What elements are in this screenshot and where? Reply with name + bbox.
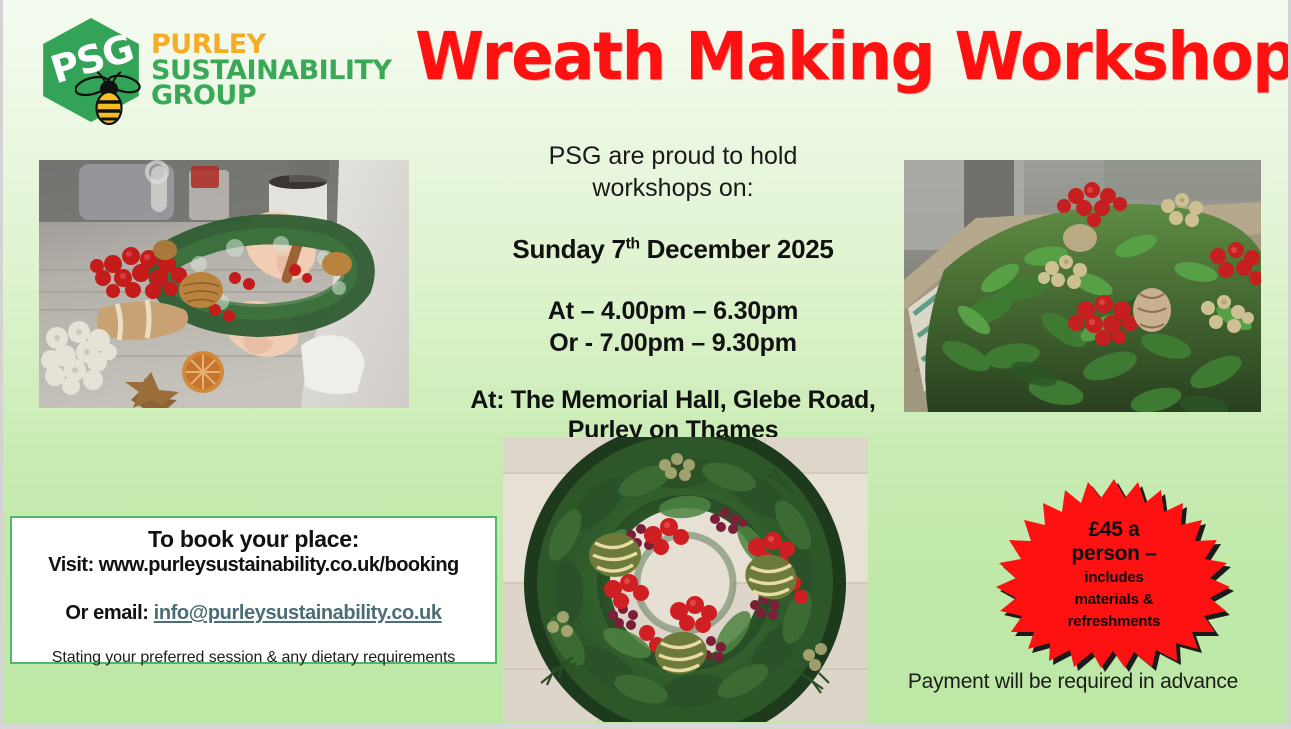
booking-email-link[interactable]: info@purleysustainability.co.uk: [154, 602, 442, 624]
logo-line-purley: PURLEY: [151, 32, 391, 58]
spacer: [423, 265, 923, 295]
price-badge: £45 a person – includes materials & refr…: [978, 477, 1250, 672]
time-session-1: At – 4.00pm – 6.30pm: [423, 295, 923, 327]
payment-note: Payment will be required in advance: [863, 670, 1283, 694]
booking-title: To book your place:: [12, 526, 495, 553]
photo-finished-wreath: [503, 437, 868, 722]
intro-text: PSG are proud to hold workshops on:: [423, 140, 923, 204]
psg-logo: PSG PURLEY SUSTAINABILITY GROUP: [39, 14, 369, 122]
photo-finished-wreath-image: [503, 437, 868, 722]
booking-website[interactable]: Visit: www.purleysustainability.co.uk/bo…: [12, 554, 495, 577]
booking-email-row: Or email: info@purleysustainability.co.u…: [12, 602, 495, 625]
date-ordinal: th: [626, 235, 640, 252]
poster-title: Wreath Making Workshops: [415, 24, 1251, 90]
booking-info-box: To book your place: Visit: www.purleysus…: [10, 516, 497, 664]
date-prefix: Sunday 7: [512, 234, 625, 264]
venue-line-1: At: The Memorial Hall, Glebe Road,: [423, 385, 923, 415]
date-suffix: December 2025: [640, 234, 834, 264]
logo-wordmark: PURLEY SUSTAINABILITY GROUP: [151, 32, 391, 109]
logo-line-group: GROUP: [151, 83, 391, 109]
booking-email-label: Or email:: [65, 602, 153, 624]
workshop-times: At – 4.00pm – 6.30pm Or - 7.00pm – 9.30p…: [423, 295, 923, 359]
workshop-details: PSG are proud to hold workshops on: Sund…: [423, 140, 923, 445]
starburst-shape: [978, 477, 1250, 672]
photo-wreath-making-image: [39, 160, 409, 408]
intro-line-1: PSG are proud to hold: [423, 140, 923, 172]
workshop-date: Sunday 7th December 2025: [423, 234, 923, 265]
workshop-venue: At: The Memorial Hall, Glebe Road, Purle…: [423, 385, 923, 445]
photo-wreath-making: [39, 160, 409, 408]
logo-hexagon: PSG: [39, 18, 143, 122]
spacer: [423, 204, 923, 234]
bee-icon: [75, 64, 143, 126]
photo-foliage-crate-image: [904, 160, 1261, 412]
poster-canvas: PSG PURLEY SUSTAINABILITY GROUP: [0, 0, 1291, 729]
photo-foliage-crate: [904, 160, 1261, 412]
booking-note: Stating your preferred session & any die…: [12, 649, 495, 667]
time-session-2: Or - 7.00pm – 9.30pm: [423, 327, 923, 359]
intro-line-2: workshops on:: [423, 172, 923, 204]
spacer: [423, 359, 923, 385]
